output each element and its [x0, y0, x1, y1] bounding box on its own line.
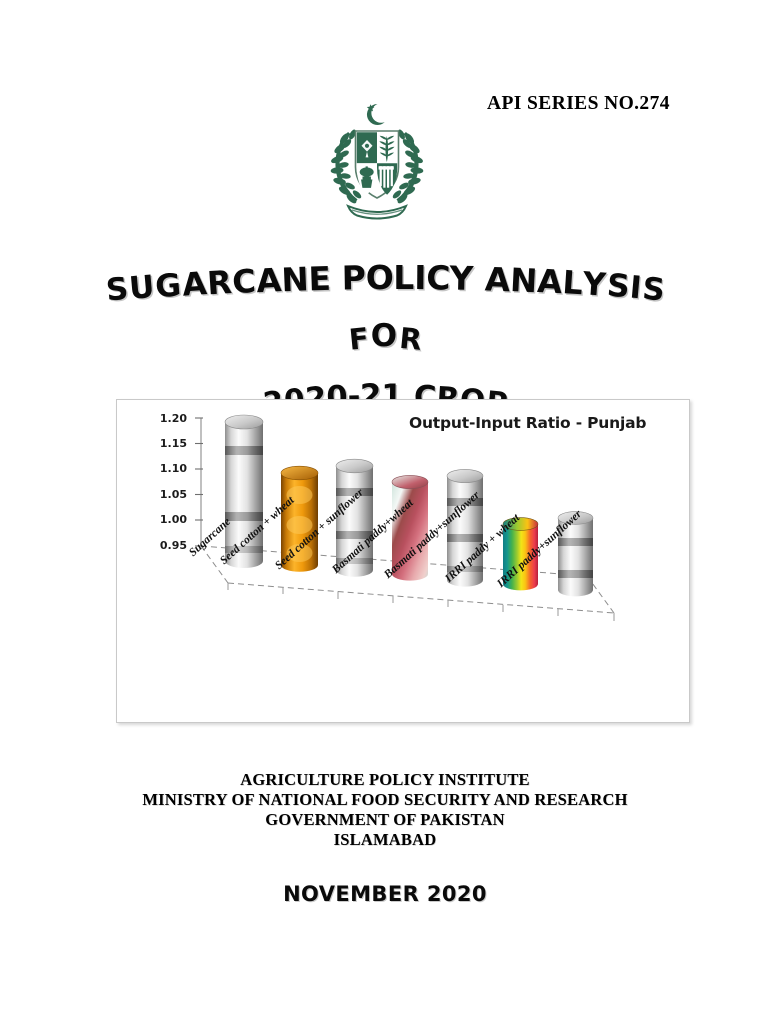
org-line-institute: AGRICULTURE POLICY INSTITUTE	[0, 770, 770, 790]
title-char: O	[365, 258, 393, 297]
org-line-ministry: MINISTRY OF NATIONAL FOOD SECURITY AND R…	[0, 790, 770, 810]
y-tick-label: 1.15	[143, 437, 187, 450]
y-tick-label: 1.00	[143, 513, 187, 526]
page-title-line-2: FOR	[0, 318, 770, 364]
organization-block: AGRICULTURE POLICY INSTITUTE MINISTRY OF…	[0, 770, 770, 850]
title-char: N	[280, 260, 308, 300]
title-char: C	[426, 258, 450, 297]
title-char: C	[231, 262, 256, 301]
y-tick-label: 1.10	[143, 462, 187, 475]
title-char: Y	[449, 259, 473, 298]
title-char: S	[605, 266, 630, 305]
y-tick-label: 1.20	[143, 412, 187, 425]
title-char	[330, 259, 342, 298]
cover-title-block: SUGARCANE POLICY ANALYSIS FOR 2020-21 CR…	[0, 250, 770, 388]
title-char: L	[561, 263, 583, 302]
title-char: E	[308, 259, 331, 298]
org-line-government: GOVERNMENT OF PAKISTAN	[0, 810, 770, 830]
title-char: O	[371, 318, 397, 354]
y-tick-label: 0.95	[143, 539, 187, 552]
cover-chart-panel: Output-Input Ratio - Punjab	[116, 399, 690, 723]
title-char: Y	[582, 264, 607, 303]
title-char: R	[397, 322, 422, 357]
title-char: G	[154, 266, 182, 305]
title-char: U	[128, 268, 156, 307]
title-char: S	[641, 270, 666, 308]
title-char: P	[341, 258, 365, 297]
title-char: F	[348, 322, 370, 357]
org-line-city: ISLAMABAD	[0, 830, 770, 850]
page-title-line-1: SUGARCANE POLICY ANALYSIS	[0, 258, 770, 304]
title-char: N	[509, 261, 537, 301]
title-char: A	[255, 261, 281, 300]
title-char: A	[181, 264, 208, 303]
publication-date: NOVEMBER 2020	[0, 882, 770, 906]
y-tick-label: 1.05	[143, 488, 187, 501]
title-char: I	[414, 258, 426, 297]
title-char: S	[104, 270, 129, 308]
cover-header: API SERIES NO.274	[0, 0, 770, 235]
title-char: R	[206, 263, 233, 302]
title-char: L	[393, 258, 414, 297]
series-number: API SERIES NO.274	[487, 93, 670, 115]
title-char: A	[536, 262, 563, 301]
title-char: A	[484, 260, 510, 299]
state-emblem-of-pakistan-icon	[318, 98, 436, 228]
title-char	[473, 259, 485, 298]
